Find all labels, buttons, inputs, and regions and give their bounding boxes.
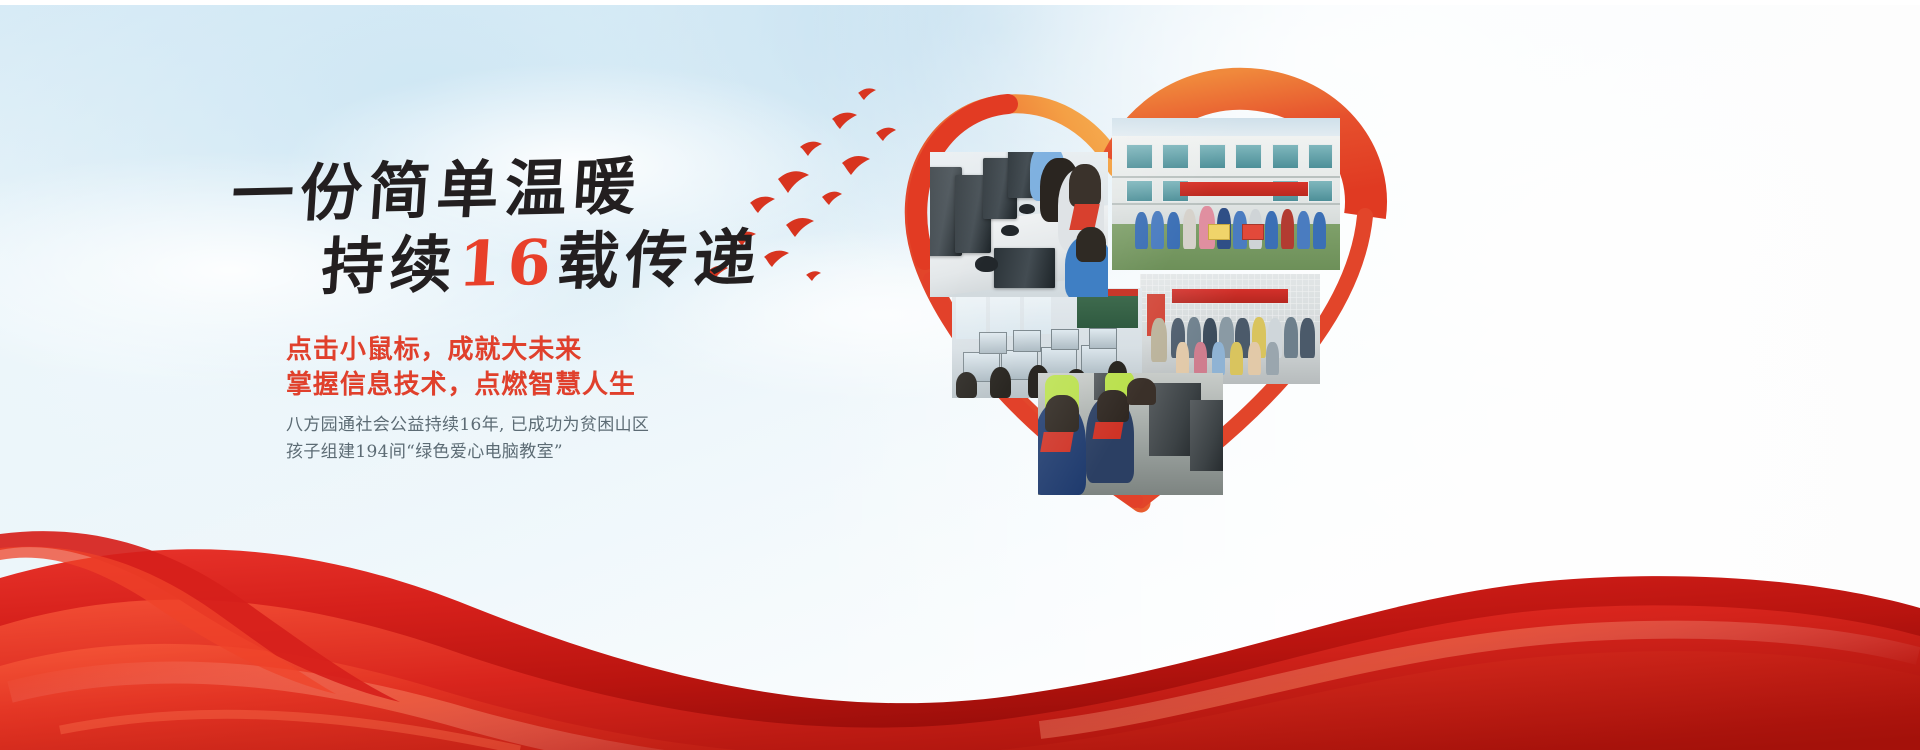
headline-years-number: 16	[456, 226, 560, 301]
photo-boys-computer	[1038, 373, 1223, 495]
subheading-line-1: 点击小鼠标，成就大未来	[286, 329, 582, 366]
photo-lab-closeup	[930, 152, 1108, 297]
photo-school-group	[1112, 118, 1340, 270]
headline-line-2-suffix: 载传递	[555, 221, 765, 298]
headline-line-1: 一份简单温暖	[230, 156, 644, 227]
red-silk-wave-icon	[0, 430, 1920, 750]
headline-line-2: 持续16载传递	[320, 227, 765, 298]
charity-banner: 一份简单温暖 持续16载传递 点击小鼠标，成就大未来 掌握信息技术，点燃智慧人生…	[0, 0, 1920, 750]
subheading-line-2: 掌握信息技术，点燃智慧人生	[286, 364, 636, 401]
photo-indoor-group	[1140, 274, 1320, 384]
headline-line-2-prefix: 持续	[319, 228, 460, 304]
